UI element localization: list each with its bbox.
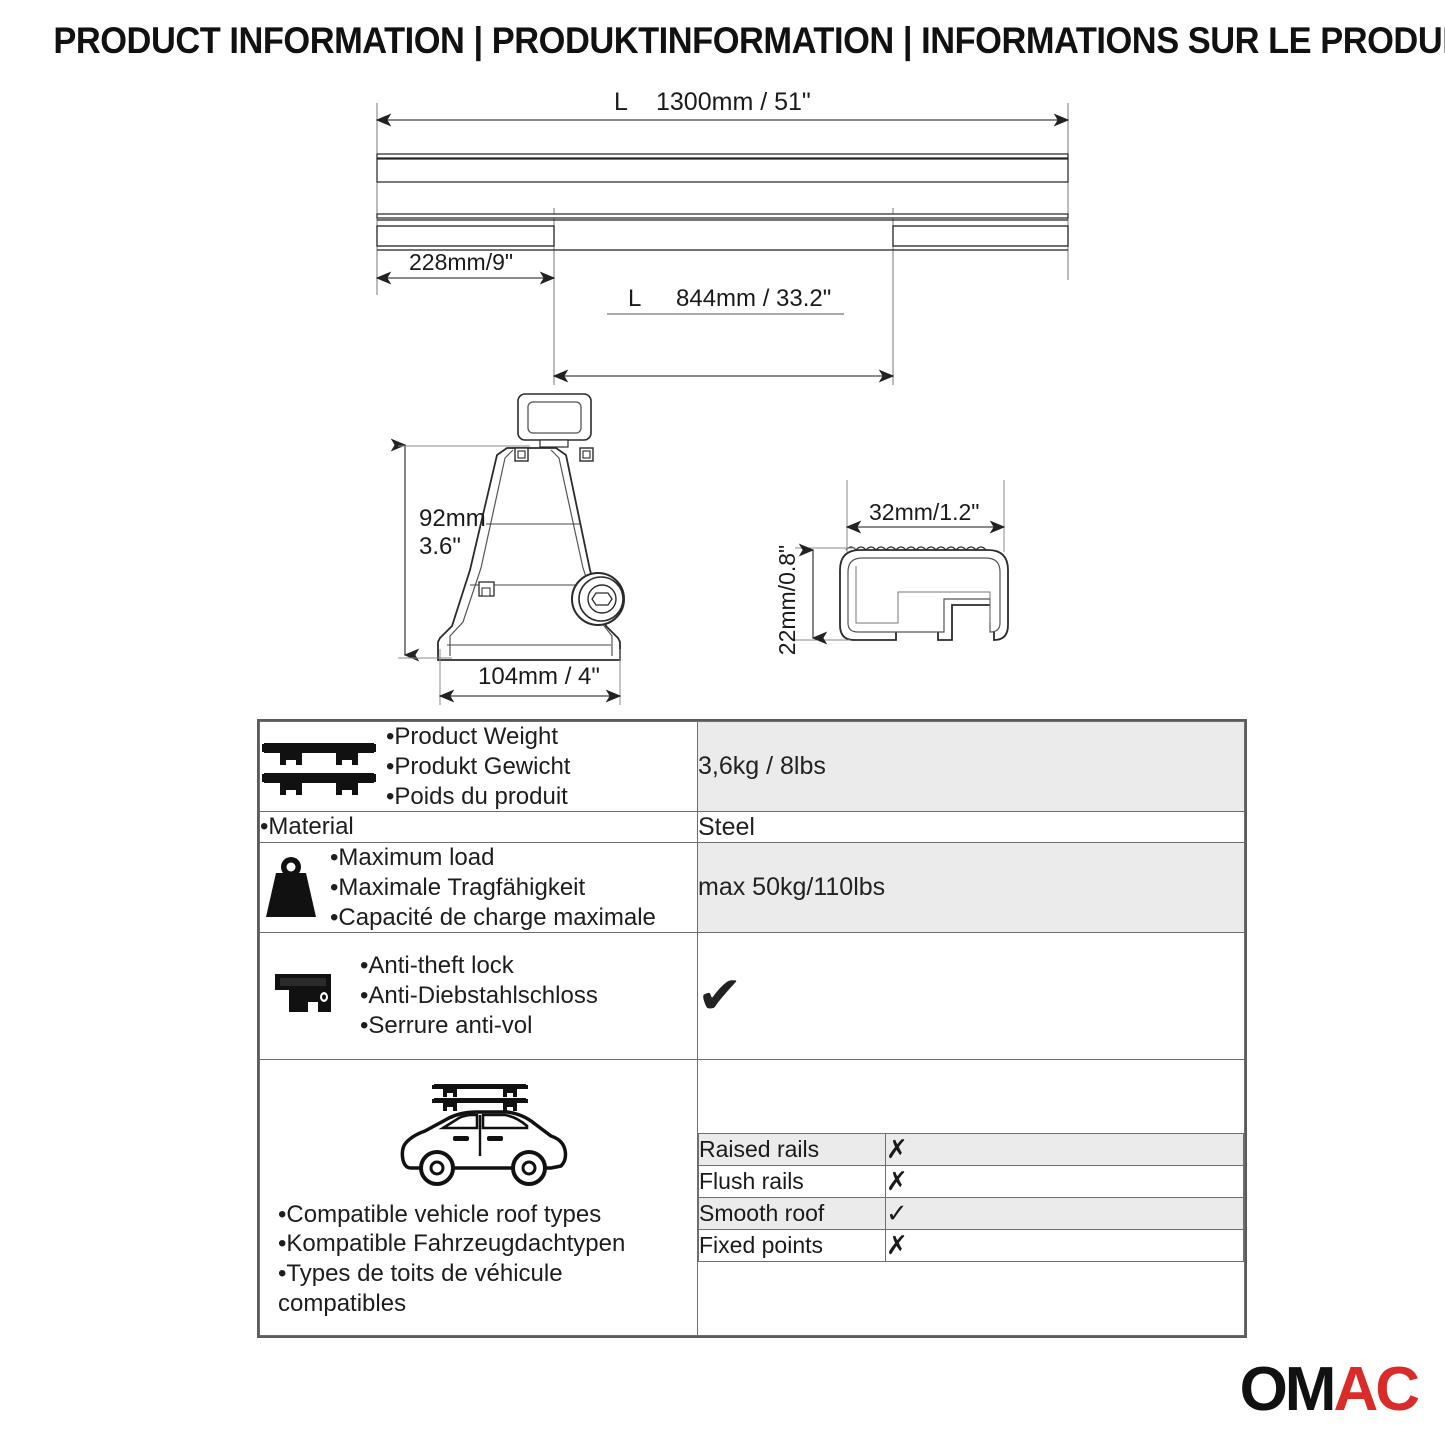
span-value: 844mm / 33.2" — [676, 285, 831, 312]
label-line: •Kompatible Fahrzeugdachtypen — [278, 1229, 687, 1259]
table-row: Fixed points ✗ — [699, 1229, 1244, 1261]
table-row: Raised rails ✗ — [699, 1133, 1244, 1165]
table-row: •Compatible vehicle roof types •Kompatib… — [260, 1059, 1245, 1335]
tower-height-value-line2: 3.6" — [419, 533, 461, 560]
row-label-cell: •Compatible vehicle roof types •Kompatib… — [260, 1059, 698, 1335]
label-line: •Capacité de charge maximale — [330, 903, 656, 933]
cross-icon: ✗ — [886, 1230, 908, 1260]
table-row: •Anti-theft lock •Anti-Diebstahlschloss … — [260, 933, 1245, 1059]
label-line: •Anti-Diebstahlschloss — [360, 981, 598, 1011]
page-title: PRODUCT INFORMATION | PRODUKTINFORMATION… — [53, 20, 1445, 62]
product-weight-value: 3,6kg / 8lbs — [698, 752, 826, 780]
technical-drawing: L 1300mm / 51" 228mm/9" L 844mm / 33.2" … — [0, 80, 1445, 710]
row-label-cell: •Maximum load •Maximale Tragfähigkeit •C… — [260, 843, 698, 933]
row-label-text: •Anti-theft lock •Anti-Diebstahlschloss … — [360, 951, 598, 1040]
label-line: •Product Weight — [386, 722, 570, 752]
table-row: Smooth roof ✓ — [699, 1197, 1244, 1229]
label-line: •Produkt Gewicht — [386, 752, 570, 782]
label-line: •Poids du produit — [386, 782, 570, 812]
roof-type-mark: ✗ — [886, 1229, 1244, 1261]
label-line: •Maximale Tragfähigkeit — [330, 873, 656, 903]
roof-types-table: Raised rails ✗ Flush rails ✗ Smooth roof… — [698, 1133, 1244, 1262]
profile-width-value: 32mm/1.2" — [869, 499, 979, 525]
table-row: •Material Steel — [260, 812, 1245, 843]
label-line: •Material — [260, 812, 354, 842]
roof-type-mark: ✓ — [886, 1197, 1244, 1229]
table-row: Flush rails ✗ — [699, 1165, 1244, 1197]
crossbars-icon — [260, 737, 378, 797]
bar-length-label: L — [614, 88, 628, 116]
roof-type-name: Raised rails — [699, 1133, 886, 1165]
cross-icon: ✗ — [886, 1166, 908, 1196]
row-label-cell: •Anti-theft lock •Anti-Diebstahlschloss … — [260, 933, 698, 1059]
logo-text-dark: OM — [1240, 1355, 1334, 1424]
bar-length-value: 1300mm / 51" — [656, 88, 811, 116]
row-value-cell: ✔ — [698, 933, 1245, 1059]
row-label-cell: •Material — [260, 812, 698, 843]
label-line: •Maximum load — [330, 843, 656, 873]
row-label-cell: •Product Weight •Produkt Gewicht •Poids … — [260, 722, 698, 812]
roof-type-mark: ✗ — [886, 1165, 1244, 1197]
logo-text-accent: AC — [1333, 1355, 1417, 1424]
anti-theft-check-icon: ✔ — [697, 970, 743, 1022]
max-load-value: max 50kg/110lbs — [698, 873, 885, 901]
specification-table: •Product Weight •Produkt Gewicht •Poids … — [257, 719, 1247, 1338]
row-value-cell: Steel — [698, 812, 1245, 843]
label-line: •Serrure anti-vol — [360, 1011, 598, 1041]
material-value: Steel — [698, 813, 755, 841]
tower-width-value: 104mm / 4" — [478, 663, 600, 690]
row-value-cell: 3,6kg / 8lbs — [698, 722, 1245, 812]
lock-icon — [272, 970, 338, 1022]
cross-icon: ✗ — [886, 1134, 908, 1164]
row-label-text: •Product Weight •Produkt Gewicht •Poids … — [386, 722, 570, 811]
roof-type-name: Flush rails — [699, 1165, 886, 1197]
label-line: •Types de toits de véhicule compatibles — [278, 1259, 687, 1319]
tower-height-value-line1: 92mm — [419, 505, 486, 532]
roof-type-mark: ✗ — [886, 1133, 1244, 1165]
label-line: •Anti-theft lock — [360, 951, 598, 981]
roof-types-cell: Raised rails ✗ Flush rails ✗ Smooth roof… — [698, 1059, 1245, 1335]
row-label-text: •Maximum load •Maximale Tragfähigkeit •C… — [330, 843, 656, 932]
weight-icon — [260, 855, 322, 921]
row-value-cell: max 50kg/110lbs — [698, 843, 1245, 933]
roof-type-name: Smooth roof — [699, 1197, 886, 1229]
dimension-drawing-svg: L 1300mm / 51" 228mm/9" L 844mm / 33.2" … — [0, 80, 1445, 710]
check-icon: ✓ — [886, 1198, 908, 1228]
foot-offset-value: 228mm/9" — [409, 249, 513, 275]
table-row: •Maximum load •Maximale Tragfähigkeit •C… — [260, 843, 1245, 933]
omac-logo: OMAC — [1240, 1359, 1417, 1421]
profile-height-value: 22mm/0.8" — [774, 545, 800, 655]
page-header: PRODUCT INFORMATION | PRODUKTINFORMATION… — [0, 20, 1445, 62]
row-label-text: •Compatible vehicle roof types •Kompatib… — [274, 1200, 687, 1319]
table-row: •Product Weight •Produkt Gewicht •Poids … — [260, 722, 1245, 812]
roof-type-name: Fixed points — [699, 1229, 886, 1261]
car-with-rack-icon — [381, 1076, 581, 1196]
span-label: L — [628, 285, 641, 312]
label-line: •Compatible vehicle roof types — [278, 1200, 687, 1230]
row-label-text: •Material — [260, 812, 354, 842]
